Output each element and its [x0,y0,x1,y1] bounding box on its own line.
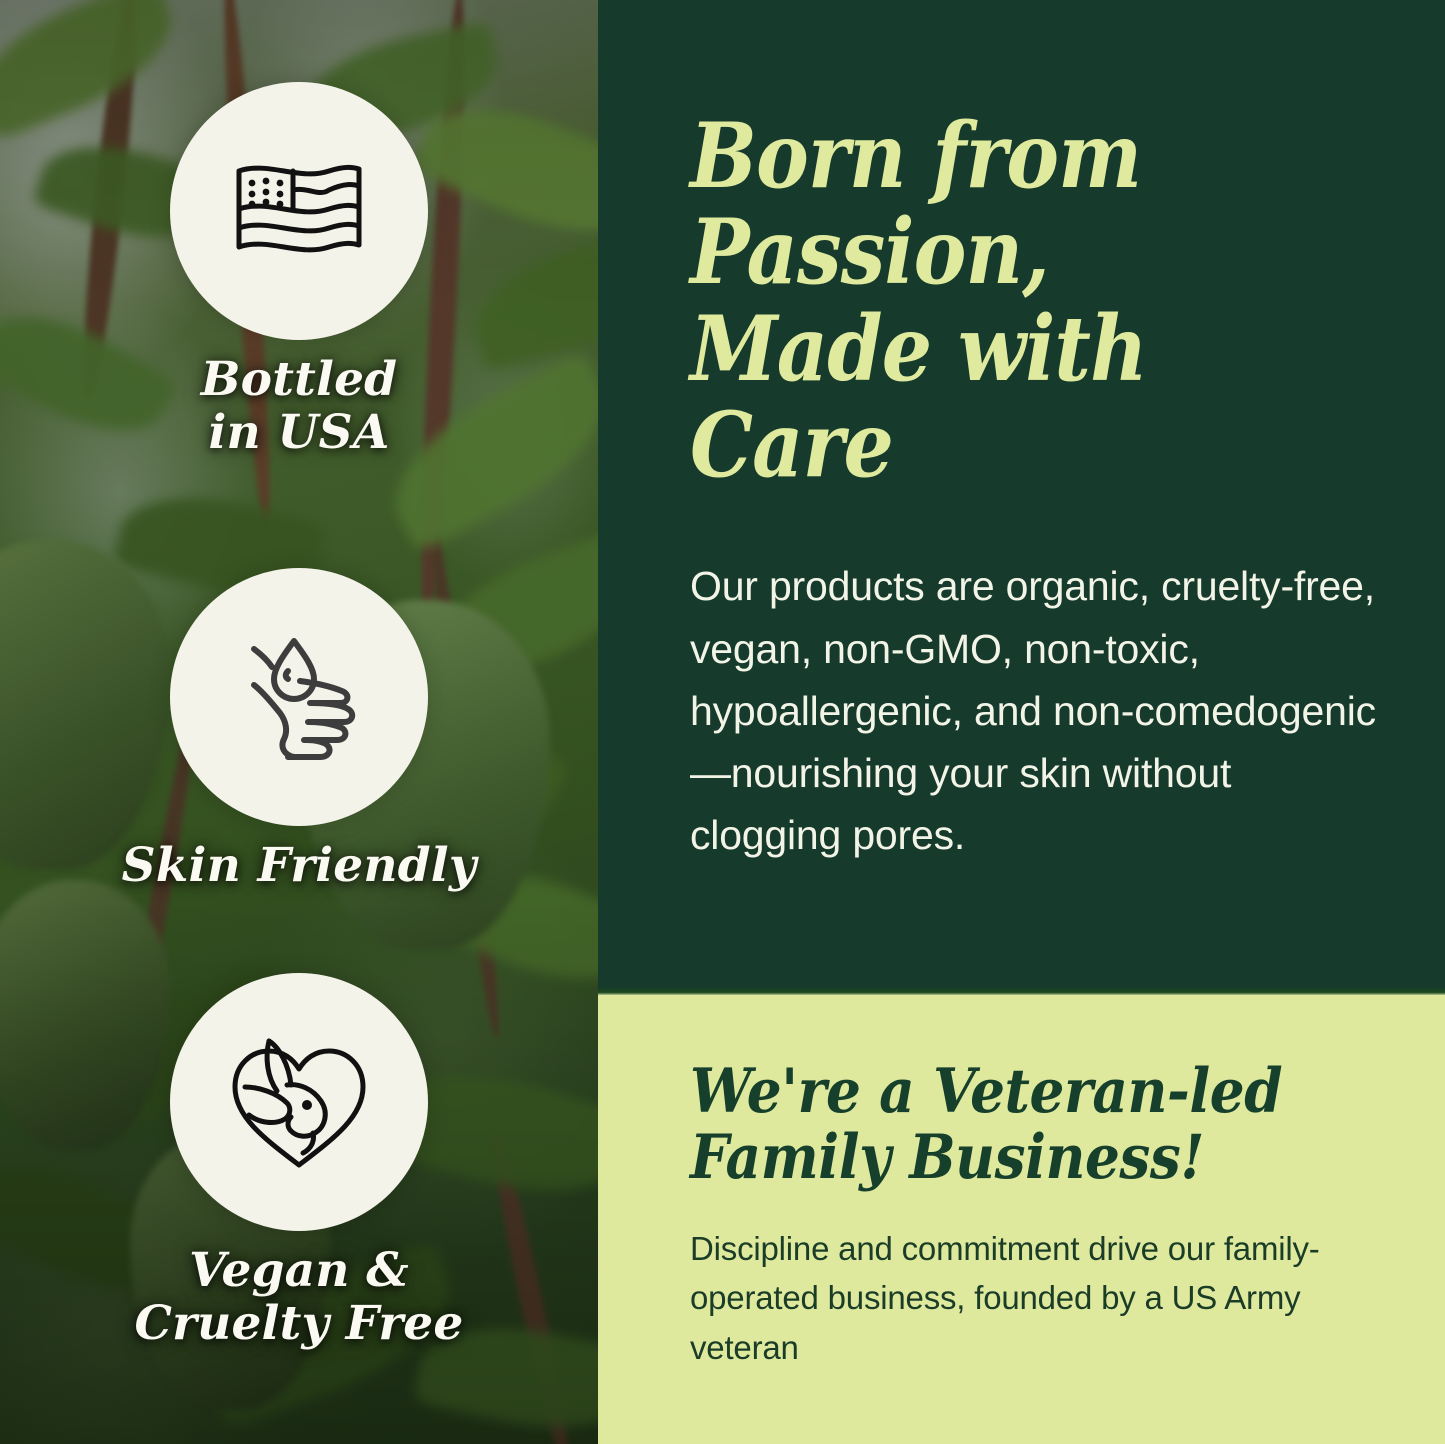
us-flag-icon [233,159,365,263]
badge-label: Vegan & Cruelty Free [0,1245,598,1350]
badge-label: Bottled in USA [0,354,598,459]
main-paragraph: Our products are organic, cruelty-free, … [690,555,1379,867]
badge-bottled-in-usa: Bottled in USA [0,82,598,459]
badge-label-line: Vegan & [0,1245,598,1298]
badge-circle [170,568,428,826]
badge-circle [170,973,428,1231]
badge-label-line: Bottled [0,354,598,407]
dark-content-panel: Born from Passion, Made with Care Our pr… [598,0,1445,995]
badge-skin-friendly: Skin Friendly [0,568,598,893]
sub-heading: We're a Veteran-led Family Business! [690,1059,1317,1192]
bunny-heart-icon [225,1031,373,1173]
main-heading: Born from Passion, Made with Care [690,108,1296,493]
badge-label: Skin Friendly [0,840,598,893]
promo-banner: Bottled in USA [0,0,1445,1444]
badge-label-line: Skin Friendly [0,840,598,893]
avocado-tree-photo: Bottled in USA [0,0,598,1444]
badge-label-line: Cruelty Free [0,1298,598,1351]
badge-label-line: in USA [0,407,598,460]
hand-droplet-icon [224,627,374,767]
light-content-panel: We're a Veteran-led Family Business! Dis… [598,995,1445,1444]
badge-vegan-cruelty-free: Vegan & Cruelty Free [0,973,598,1350]
sub-paragraph: Discipline and commitment drive our fami… [690,1224,1370,1373]
badge-circle [170,82,428,340]
